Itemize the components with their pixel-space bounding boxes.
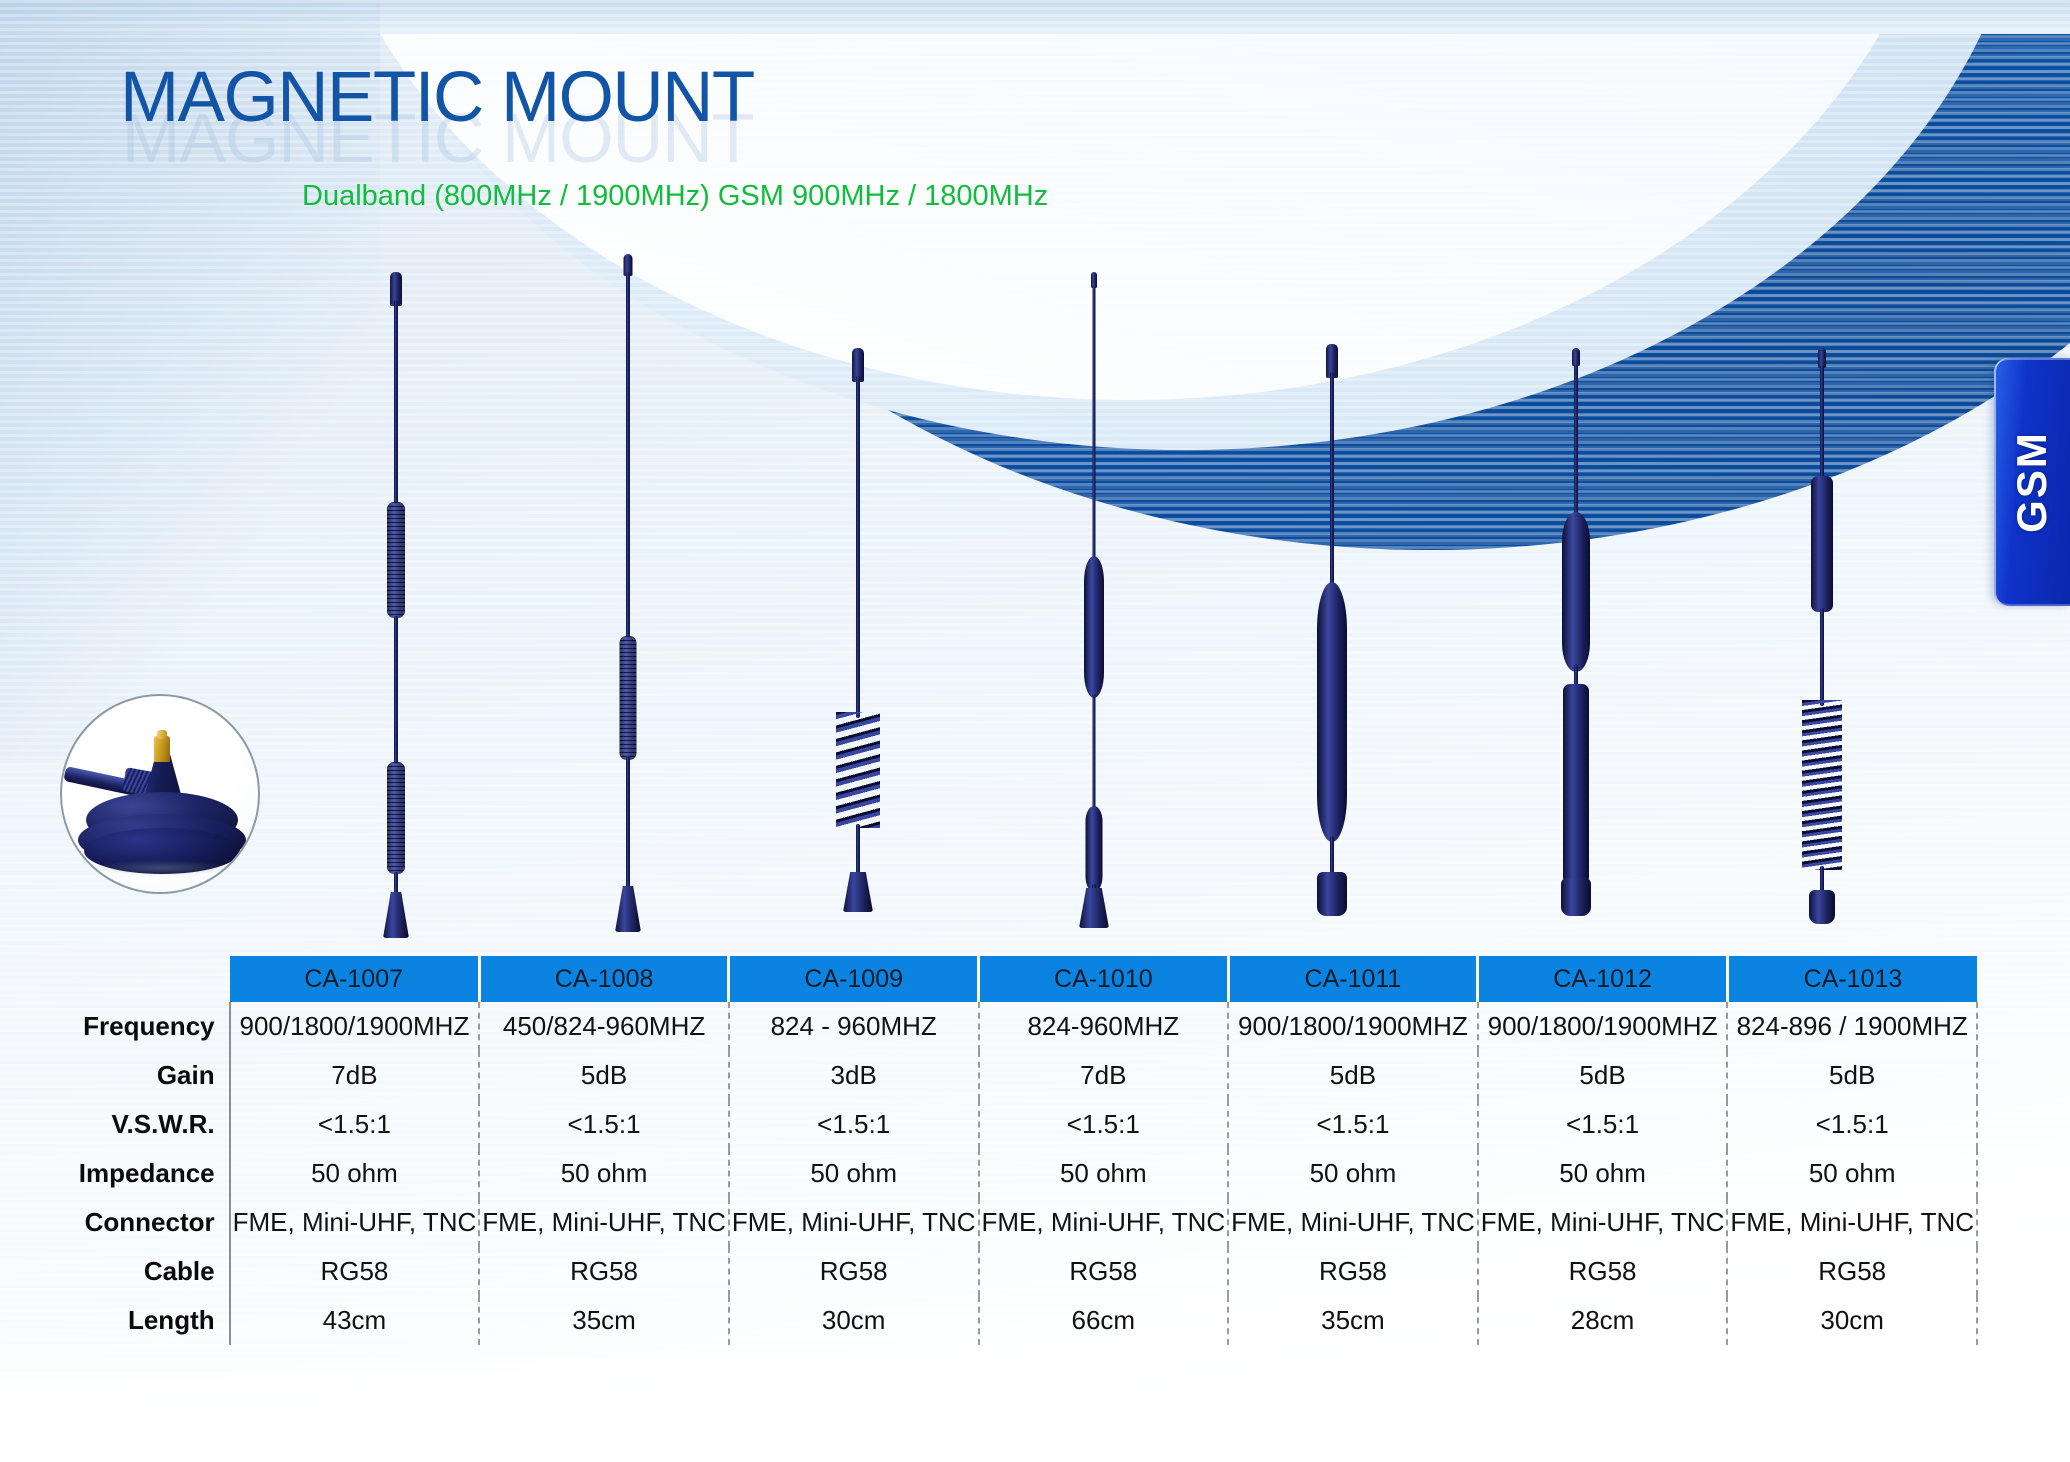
cell-cable-ca-1007: RG58 <box>230 1247 480 1296</box>
antenna-base-ferrule <box>1317 872 1347 916</box>
row-label-cable: Cable <box>78 1247 230 1296</box>
cell-gain-ca-1008: 5dB <box>479 1051 729 1100</box>
row-label-length: Length <box>78 1296 230 1345</box>
cell-cable-ca-1010: RG58 <box>979 1247 1229 1296</box>
cell-frequency-ca-1011: 900/1800/1900MHZ <box>1228 1002 1478 1051</box>
antenna-illustration-group <box>0 0 2070 940</box>
cell-length-ca-1011: 35cm <box>1228 1296 1478 1345</box>
cell-gain-ca-1010: 7dB <box>979 1051 1229 1100</box>
antenna-figure-ca-1012 <box>1518 0 1634 940</box>
table-header-row: CA-1007 CA-1008 CA-1009 CA-1010 CA-1011 … <box>78 956 1977 1002</box>
cell-length-ca-1007: 43cm <box>230 1296 480 1345</box>
cell-impedance-ca-1010: 50 ohm <box>979 1149 1229 1198</box>
cell-frequency-ca-1010: 824-960MHZ <box>979 1002 1229 1051</box>
antenna-base-ferrule <box>1809 890 1835 924</box>
column-header-ca-1012[interactable]: CA-1012 <box>1478 956 1728 1002</box>
cell-frequency-ca-1013: 824-896 / 1900MHZ <box>1727 1002 1977 1051</box>
antenna-coil-spindle <box>1084 556 1104 698</box>
cell-cable-ca-1009: RG58 <box>729 1247 979 1296</box>
table-row-impedance: Impedance 50 ohm 50 ohm 50 ohm 50 ohm 50… <box>78 1149 1977 1198</box>
cell-cable-ca-1013: RG58 <box>1727 1247 1977 1296</box>
antenna-base-ferrule <box>843 872 873 912</box>
table-row-frequency: Frequency 900/1800/1900MHZ 450/824-960MH… <box>78 1002 1977 1051</box>
cell-connector-ca-1012: FME, Mini-UHF, TNC <box>1478 1198 1728 1247</box>
antenna-base-ferrule <box>383 892 409 938</box>
table-row-vswr: V.S.W.R. <1.5:1 <1.5:1 <1.5:1 <1.5:1 <1.… <box>78 1100 1977 1149</box>
table-row-connector: Connector FME, Mini-UHF, TNC FME, Mini-U… <box>78 1198 1977 1247</box>
cell-vswr-ca-1007: <1.5:1 <box>230 1100 480 1149</box>
cell-impedance-ca-1013: 50 ohm <box>1727 1149 1977 1198</box>
cell-cable-ca-1012: RG58 <box>1478 1247 1728 1296</box>
cell-cable-ca-1011: RG58 <box>1228 1247 1478 1296</box>
row-label-frequency: Frequency <box>78 1002 230 1051</box>
antenna-tip <box>1818 348 1826 368</box>
cell-connector-ca-1013: FME, Mini-UHF, TNC <box>1727 1198 1977 1247</box>
antenna-spring-coil <box>1802 700 1842 870</box>
antenna-coil <box>620 636 637 760</box>
cell-gain-ca-1009: 3dB <box>729 1051 979 1100</box>
antenna-whip-mid <box>1093 694 1096 810</box>
antenna-coil-upper <box>1562 512 1590 672</box>
cell-impedance-ca-1009: 50 ohm <box>729 1149 979 1198</box>
antenna-spring-coil <box>836 712 880 828</box>
row-label-impedance: Impedance <box>78 1149 230 1198</box>
antenna-whip <box>1330 372 1334 590</box>
cell-vswr-ca-1010: <1.5:1 <box>979 1100 1229 1149</box>
cell-frequency-ca-1009: 824 - 960MHZ <box>729 1002 979 1051</box>
cell-connector-ca-1007: FME, Mini-UHF, TNC <box>230 1198 480 1247</box>
antenna-coil-upper <box>387 502 405 618</box>
antenna-whip <box>856 376 860 718</box>
cell-gain-ca-1013: 5dB <box>1727 1051 1977 1100</box>
antenna-figure-ca-1011 <box>1274 0 1390 940</box>
antenna-base-ferrule <box>1561 878 1591 916</box>
table-row-gain: Gain 7dB 5dB 3dB 7dB 5dB 5dB 5dB <box>78 1051 1977 1100</box>
antenna-whip <box>394 300 398 506</box>
column-header-ca-1010[interactable]: CA-1010 <box>979 956 1229 1002</box>
antenna-coil <box>1811 476 1833 612</box>
cell-connector-ca-1011: FME, Mini-UHF, TNC <box>1228 1198 1478 1247</box>
row-label-connector: Connector <box>78 1198 230 1247</box>
cell-frequency-ca-1007: 900/1800/1900MHZ <box>230 1002 480 1051</box>
cell-length-ca-1010: 66cm <box>979 1296 1229 1345</box>
column-header-ca-1009[interactable]: CA-1009 <box>729 956 979 1002</box>
cell-impedance-ca-1011: 50 ohm <box>1228 1149 1478 1198</box>
cell-connector-ca-1008: FME, Mini-UHF, TNC <box>479 1198 729 1247</box>
table-corner-cell <box>78 956 230 1002</box>
product-catalog-page: MAGNETIC MOUNT MAGNETIC MOUNT Dualband (… <box>0 0 2070 1462</box>
antenna-base-ferrule <box>615 886 641 932</box>
cell-vswr-ca-1009: <1.5:1 <box>729 1100 979 1149</box>
antenna-whip-mid <box>394 616 398 764</box>
antenna-whip-mid <box>1820 608 1824 706</box>
cell-vswr-ca-1008: <1.5:1 <box>479 1100 729 1149</box>
antenna-coil-lower <box>1086 806 1103 892</box>
cell-connector-ca-1009: FME, Mini-UHF, TNC <box>729 1198 979 1247</box>
row-label-vswr: V.S.W.R. <box>78 1100 230 1149</box>
antenna-whip <box>626 272 630 640</box>
cell-length-ca-1012: 28cm <box>1478 1296 1728 1345</box>
cell-gain-ca-1007: 7dB <box>230 1051 480 1100</box>
cell-impedance-ca-1012: 50 ohm <box>1478 1149 1728 1198</box>
cell-gain-ca-1012: 5dB <box>1478 1051 1728 1100</box>
antenna-figure-ca-1009 <box>800 0 916 940</box>
page-bottom-fade <box>0 1342 2070 1462</box>
cell-impedance-ca-1008: 50 ohm <box>479 1149 729 1198</box>
antenna-whip <box>1574 364 1578 516</box>
column-header-ca-1013[interactable]: CA-1013 <box>1727 956 1977 1002</box>
antenna-whip-base <box>626 756 630 906</box>
cell-length-ca-1008: 35cm <box>479 1296 729 1345</box>
antenna-whip <box>1093 286 1096 558</box>
column-header-ca-1008[interactable]: CA-1008 <box>479 956 729 1002</box>
cell-cable-ca-1008: RG58 <box>479 1247 729 1296</box>
cell-impedance-ca-1007: 50 ohm <box>230 1149 480 1198</box>
row-label-gain: Gain <box>78 1051 230 1100</box>
antenna-figure-ca-1013 <box>1764 0 1880 940</box>
cell-frequency-ca-1008: 450/824-960MHZ <box>479 1002 729 1051</box>
specifications-table: CA-1007 CA-1008 CA-1009 CA-1010 CA-1011 … <box>78 956 1978 1345</box>
antenna-coil-spindle <box>1317 582 1347 842</box>
table-row-length: Length 43cm 35cm 30cm 66cm 35cm 28cm 30c… <box>78 1296 1977 1345</box>
antenna-coil-lower <box>387 762 405 874</box>
cell-gain-ca-1011: 5dB <box>1228 1051 1478 1100</box>
antenna-base-ferrule <box>1079 888 1109 928</box>
cell-vswr-ca-1013: <1.5:1 <box>1727 1100 1977 1149</box>
cell-frequency-ca-1012: 900/1800/1900MHZ <box>1478 1002 1728 1051</box>
column-header-ca-1011[interactable]: CA-1011 <box>1228 956 1478 1002</box>
cell-connector-ca-1010: FME, Mini-UHF, TNC <box>979 1198 1229 1247</box>
table-row-cable: Cable RG58 RG58 RG58 RG58 RG58 RG58 RG58 <box>78 1247 1977 1296</box>
cell-vswr-ca-1012: <1.5:1 <box>1478 1100 1728 1149</box>
cell-length-ca-1013: 30cm <box>1727 1296 1977 1345</box>
antenna-figure-ca-1010 <box>1036 0 1152 940</box>
specifications-table-wrapper: CA-1007 CA-1008 CA-1009 CA-1010 CA-1011 … <box>78 956 1978 1345</box>
cell-vswr-ca-1011: <1.5:1 <box>1228 1100 1478 1149</box>
antenna-figure-ca-1008 <box>570 0 686 940</box>
cell-length-ca-1009: 30cm <box>729 1296 979 1345</box>
antenna-figure-ca-1007 <box>338 0 454 940</box>
antenna-whip <box>1820 366 1824 480</box>
column-header-ca-1007[interactable]: CA-1007 <box>230 956 480 1002</box>
antenna-coil-lower <box>1563 684 1589 884</box>
